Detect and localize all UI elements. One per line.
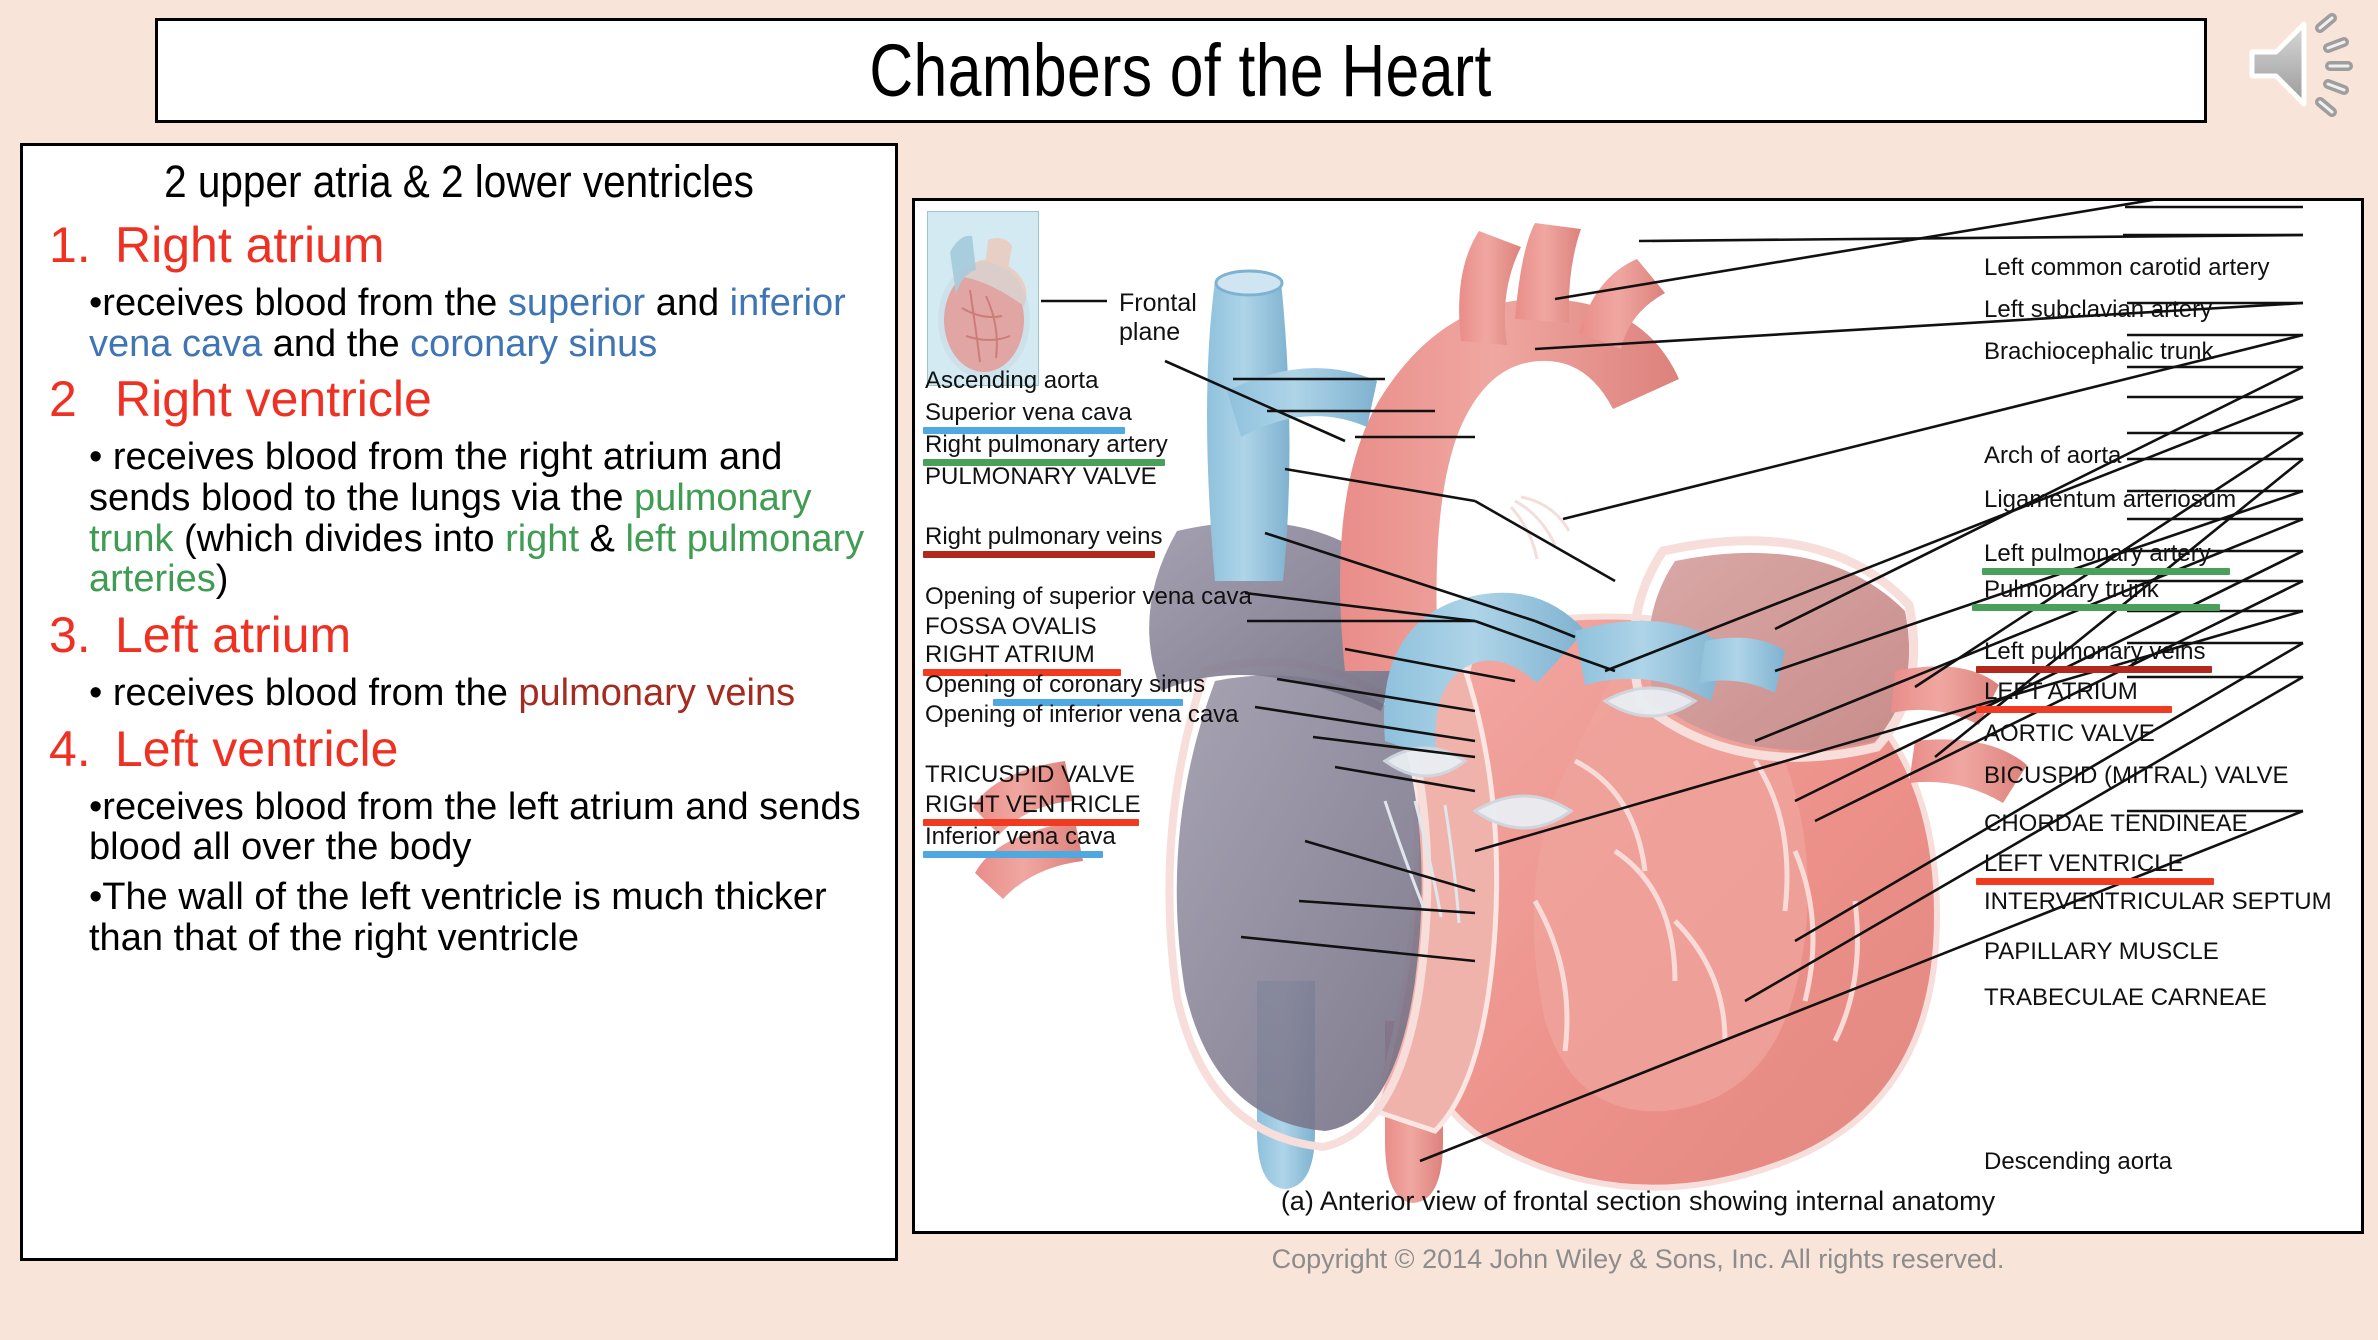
- label-ascending-aorta: Ascending aorta: [925, 369, 1098, 393]
- heart-diagram-panel: Frontal plane Ascending aorta Superior v…: [912, 198, 2364, 1234]
- label-tricuspid-valve: TRICUSPID VALVE: [925, 763, 1135, 787]
- item-index: 2: [37, 370, 115, 428]
- slide-title-box: Chambers of the Heart: [155, 18, 2207, 123]
- item-label: Right ventricle: [115, 370, 432, 428]
- list-item: 4. Left ventricle: [37, 720, 881, 778]
- item-index: 4.: [37, 720, 115, 778]
- frontal-plane-line1: Frontal: [1119, 289, 1197, 318]
- label-opening-coronary-sinus: Opening of coronary sinus: [925, 673, 1205, 697]
- list-item: 1. Right atrium: [37, 216, 881, 274]
- speaker-icon[interactable]: [2232, 4, 2372, 124]
- underline-inferior-vena-cava: [923, 851, 1103, 858]
- label-superior-vena-cava: Superior vena cava: [925, 401, 1132, 425]
- frontal-plane-line2: plane: [1119, 318, 1197, 347]
- label-right-atrium: RIGHT ATRIUM: [925, 643, 1095, 667]
- bullet-text: •receives blood from the left atrium and…: [89, 787, 881, 868]
- frontal-plane-inset: [927, 211, 1039, 386]
- bullet-text: • receives blood from the pulmonary vein…: [89, 673, 881, 714]
- list-item: 3. Left atrium: [37, 606, 881, 664]
- item-label: Right atrium: [115, 216, 385, 274]
- copyright-notice: Copyright © 2014 John Wiley & Sons, Inc.…: [912, 1244, 2364, 1275]
- label-right-pulmonary-artery: Right pulmonary artery: [925, 433, 1168, 457]
- frontal-plane-label: Frontal plane: [1119, 289, 1197, 347]
- label-right-pulmonary-veins: Right pulmonary veins: [925, 525, 1162, 549]
- content-panel: 2 upper atria & 2 lower ventricles 1. Ri…: [20, 143, 898, 1261]
- label-right-ventricle: RIGHT VENTRICLE: [925, 793, 1141, 817]
- underline-right-pulmonary-veins: [923, 551, 1155, 558]
- label-opening-inferior-vena-cava: Opening of inferior vena cava: [925, 703, 1239, 727]
- label-left-common-carotid-artery: Left common carotid artery: [2315, 198, 2364, 205]
- diagram-caption-wrapper: (a) Anterior view of frontal section sho…: [912, 1186, 2364, 1217]
- label-opening-superior-vena-cava: Opening of superior vena cava: [925, 585, 1252, 609]
- bullet-text: •The wall of the left ventricle is much …: [89, 877, 881, 958]
- item-label: Left atrium: [115, 606, 351, 664]
- page-title: Chambers of the Heart: [870, 28, 1492, 113]
- lead-line: 2 upper atria & 2 lower ventricles: [79, 156, 839, 208]
- label-inferior-vena-cava: Inferior vena cava: [925, 825, 1116, 849]
- label-fossa-ovalis: FOSSA OVALIS: [925, 615, 1097, 639]
- item-label: Left ventricle: [115, 720, 398, 778]
- slide-canvas: Chambers of the Heart: [0, 0, 2378, 1340]
- diagram-caption: (a) Anterior view of frontal section sho…: [1281, 1186, 1995, 1216]
- item-index: 3.: [37, 606, 115, 664]
- bullet-text: •receives blood from the superior and in…: [89, 283, 881, 364]
- bullet-text: • receives blood from the right atrium a…: [89, 437, 881, 600]
- item-index: 1.: [37, 216, 115, 274]
- list-item: 2 Right ventricle: [37, 370, 881, 428]
- label-pulmonary-valve: PULMONARY VALVE: [925, 465, 1157, 489]
